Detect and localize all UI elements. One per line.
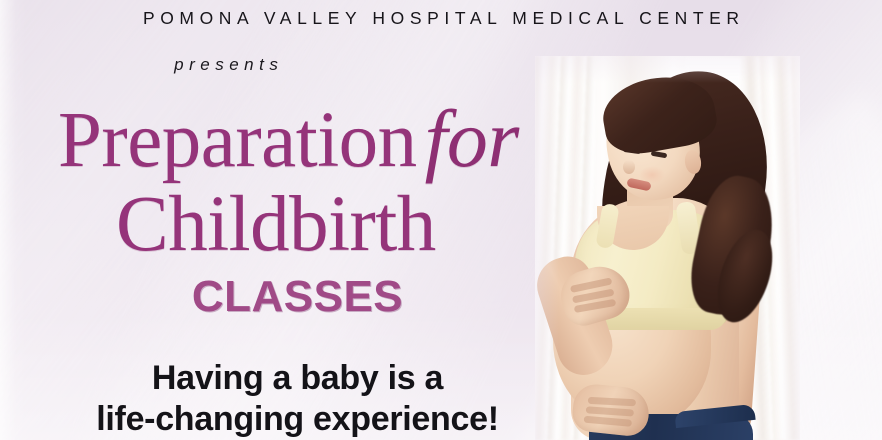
title-line-one: Preparationfor bbox=[58, 96, 598, 184]
subtitle-classes: CLASSES bbox=[0, 272, 595, 322]
organization-name: POMONA VALLEY HOSPITAL MEDICAL CENTER bbox=[0, 8, 882, 29]
tagline-line-two: life-changing experience! bbox=[0, 399, 595, 440]
event-title: Preparationfor Childbirth bbox=[58, 96, 598, 266]
title-word-preparation: Preparation bbox=[58, 97, 417, 184]
tagline: Having a baby is a life-changing experie… bbox=[0, 358, 595, 440]
presents-label: presents bbox=[0, 55, 882, 75]
flyer-poster: POMONA VALLEY HOSPITAL MEDICAL CENTER pr… bbox=[0, 0, 882, 440]
title-line-two: Childbirth bbox=[116, 184, 598, 266]
title-word-for: for bbox=[417, 93, 519, 184]
nose bbox=[623, 160, 635, 174]
tagline-line-one: Having a baby is a bbox=[0, 358, 595, 399]
